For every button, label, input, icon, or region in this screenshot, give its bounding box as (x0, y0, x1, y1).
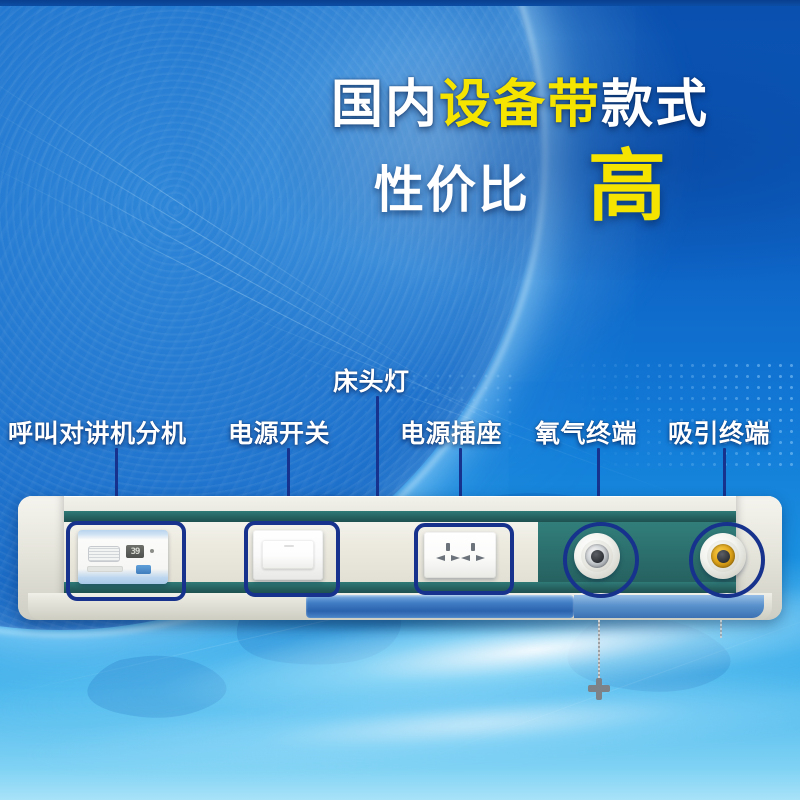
callout-layer: 呼叫对讲机分机 电源开关 床头灯 电源插座 氧气终端 吸引终端 (0, 0, 800, 800)
promo-banner: 国内设备带款式 性价比 高 呼叫对讲机分机 电源开关 床头灯 电源插座 氧气终端… (0, 0, 800, 800)
callout-label-bed-lamp: 床头灯 (333, 362, 410, 398)
bed-lamp-light-strip-right (574, 595, 764, 618)
highlight-box-nurse-call-intercom (66, 521, 186, 601)
callout-label-power-socket: 电源插座 (400, 414, 502, 450)
callout-label-power-switch: 电源开关 (228, 414, 330, 450)
highlight-box-power-switch (244, 521, 340, 597)
highlight-box-power-socket (414, 523, 514, 595)
highlight-circle-suction-terminal (689, 522, 765, 598)
pull-cord-hook-icon[interactable] (588, 678, 610, 700)
bed-lamp-light-strip[interactable] (306, 595, 574, 618)
callout-label-suction-terminal: 吸引终端 (668, 414, 770, 450)
callout-label-nurse-call-intercom: 呼叫对讲机分机 (8, 414, 187, 450)
pull-cord-secondary (720, 620, 722, 638)
highlight-circle-oxygen-terminal (563, 522, 639, 598)
callout-label-oxygen-terminal: 氧气终端 (535, 414, 637, 450)
pull-cord[interactable] (598, 620, 600, 682)
